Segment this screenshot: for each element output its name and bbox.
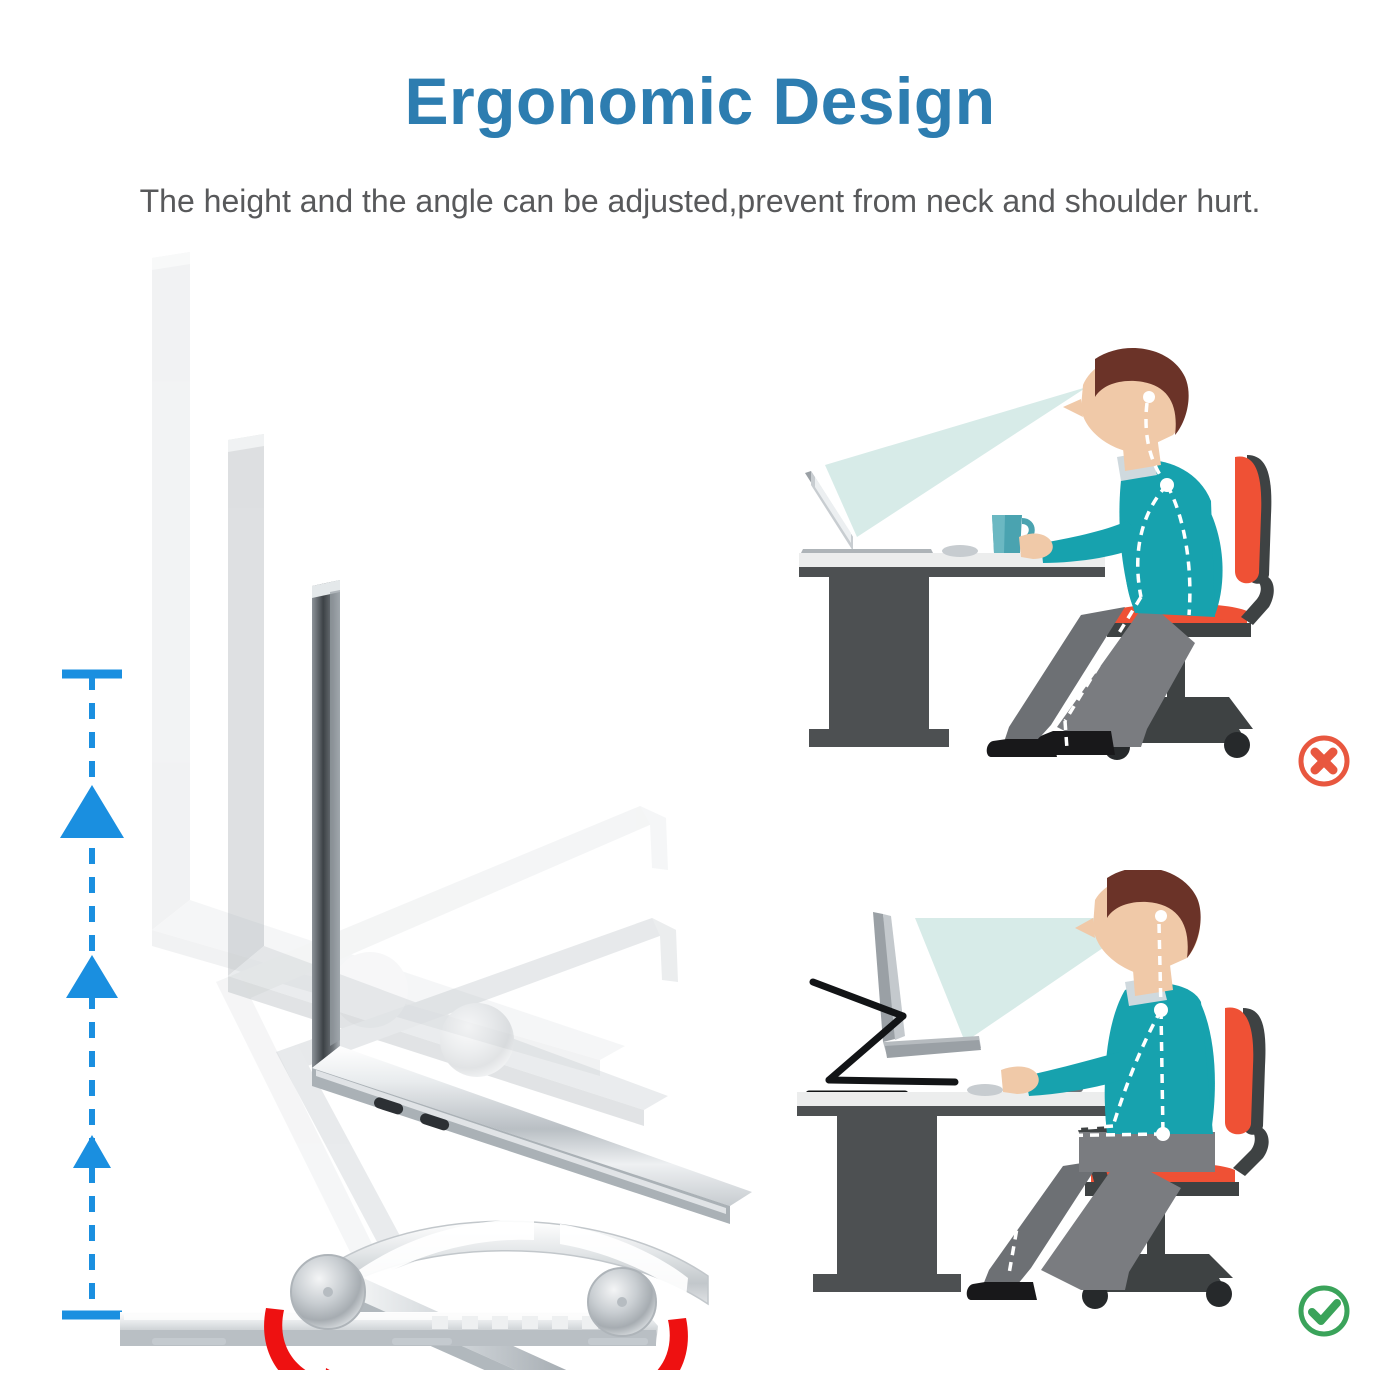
height-marker-medium	[66, 955, 118, 998]
ear-marker	[1143, 391, 1155, 403]
scene-bad-posture	[795, 325, 1335, 795]
infographic-page: Ergonomic Design The height and the angl…	[0, 0, 1400, 1400]
sightline-cone	[825, 387, 1087, 537]
height-indicator	[60, 674, 124, 1315]
circle-x-icon	[1315, 752, 1333, 770]
pivot-hinge-left	[291, 1255, 365, 1329]
product-illustration	[40, 240, 780, 1370]
laptop-position-lowest	[312, 580, 340, 1068]
circle-check-icon	[1312, 1303, 1337, 1321]
ear-marker	[1155, 910, 1167, 922]
scene-good-posture	[795, 870, 1335, 1340]
height-marker-large	[60, 785, 124, 838]
status-badge-correct	[1296, 1283, 1352, 1339]
mouse	[967, 1084, 1003, 1096]
page-title: Ergonomic Design	[0, 68, 1400, 134]
pivot-hinge-right	[588, 1268, 656, 1336]
page-subtitle: The height and the angle can be adjusted…	[0, 182, 1400, 220]
status-badge-incorrect	[1296, 733, 1352, 789]
stand-base-plate	[120, 1312, 658, 1346]
mouse	[942, 545, 978, 557]
height-marker-small	[73, 1135, 111, 1168]
